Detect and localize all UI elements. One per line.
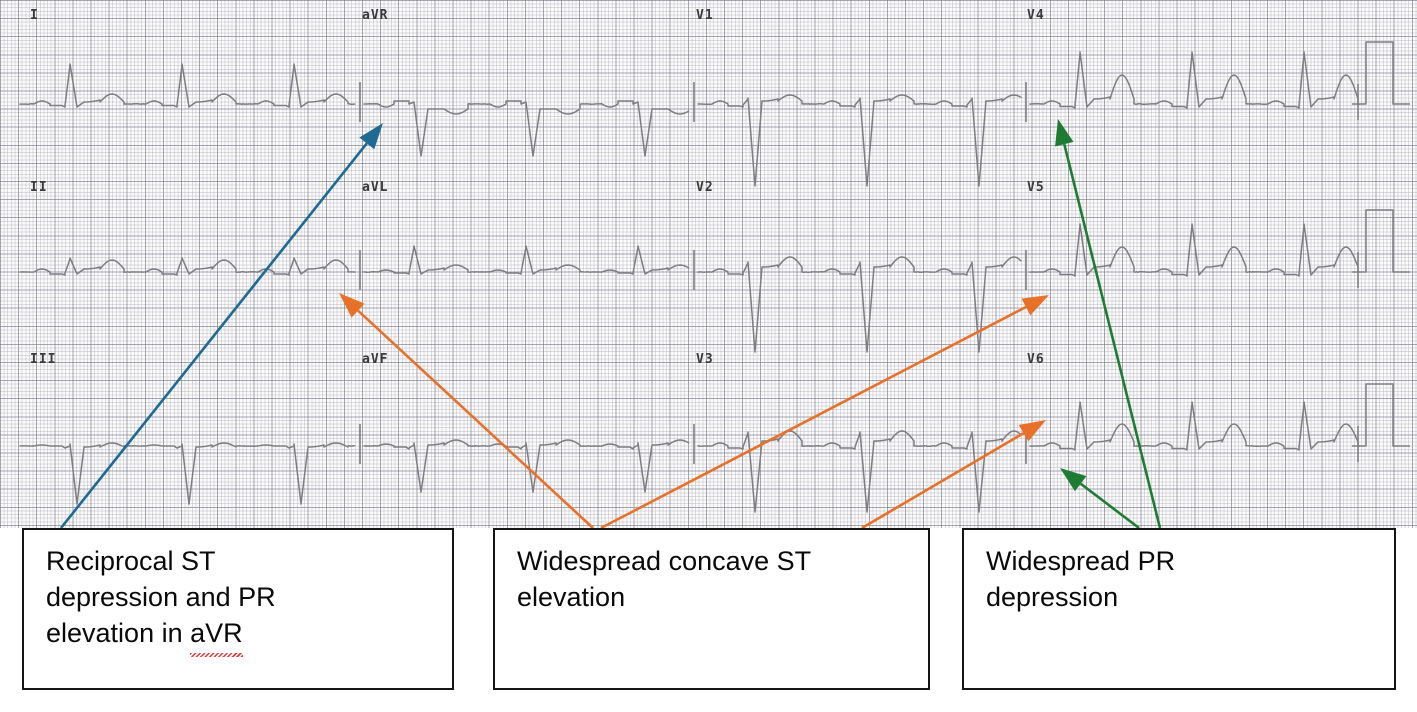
ecg-trace-v1: [698, 95, 1021, 186]
ecg-trace-i: [20, 64, 355, 107]
lead-label-avr: aVR: [362, 8, 388, 23]
ecg-trace-v4: [1030, 52, 1359, 108]
lead-label-avl: aVL: [362, 180, 388, 195]
calibration-pulse: [1352, 210, 1410, 272]
lead-label-avf: aVF: [362, 352, 388, 367]
lead-label-v6: V6: [1027, 352, 1045, 367]
lead-label-v4: V4: [1027, 8, 1045, 23]
callout-line: elevation: [517, 580, 914, 616]
calibration-pulse: [1352, 384, 1410, 446]
ecg-strip: IaVRV1V4IIaVLV2V5IIIaVFV3V6: [0, 0, 1417, 528]
callout-text: Widespread PRdepression: [986, 544, 1380, 616]
ecg-trace-v6: [1030, 402, 1359, 450]
lead-label-v5: V5: [1027, 180, 1045, 195]
callout-line: depression: [986, 580, 1380, 616]
lead-label-ii: II: [30, 180, 48, 195]
ecg-waveform-traces: [0, 0, 1417, 528]
lead-label-iii: III: [30, 352, 56, 367]
calibration-pulse: [1352, 42, 1410, 104]
ecg-trace-v2: [698, 257, 1021, 352]
ecg-trace-v5: [1030, 224, 1359, 276]
callout-text: Reciprocal STdepression and PRelevation …: [46, 544, 438, 652]
ecg-trace-ii: [20, 258, 355, 275]
callout-st-elevation: Widespread concave STelevation: [493, 528, 930, 690]
callout-line: depression and PR: [46, 580, 438, 616]
ecg-trace-avr: [364, 101, 689, 156]
ecg-trace-avl: [364, 246, 689, 274]
lead-label-v1: V1: [696, 8, 714, 23]
lead-label-i: I: [30, 8, 39, 23]
callout-text: Widespread concave STelevation: [517, 544, 914, 616]
callout-reciprocal-st-depression: Reciprocal STdepression and PRelevation …: [22, 528, 454, 690]
callout-line: elevation in aVR: [46, 616, 438, 652]
ecg-trace-iii: [20, 443, 355, 504]
callout-line: Reciprocal ST: [46, 544, 438, 580]
ecg-trace-v3: [698, 431, 1021, 512]
lead-label-v3: V3: [696, 352, 714, 367]
lead-label-v2: V2: [696, 180, 714, 195]
callout-line: Widespread PR: [986, 544, 1380, 580]
spellcheck-word: aVR: [190, 616, 243, 652]
ecg-trace-avf: [364, 440, 689, 492]
callout-pr-depression: Widespread PRdepression: [962, 528, 1396, 690]
callout-line: Widespread concave ST: [517, 544, 914, 580]
